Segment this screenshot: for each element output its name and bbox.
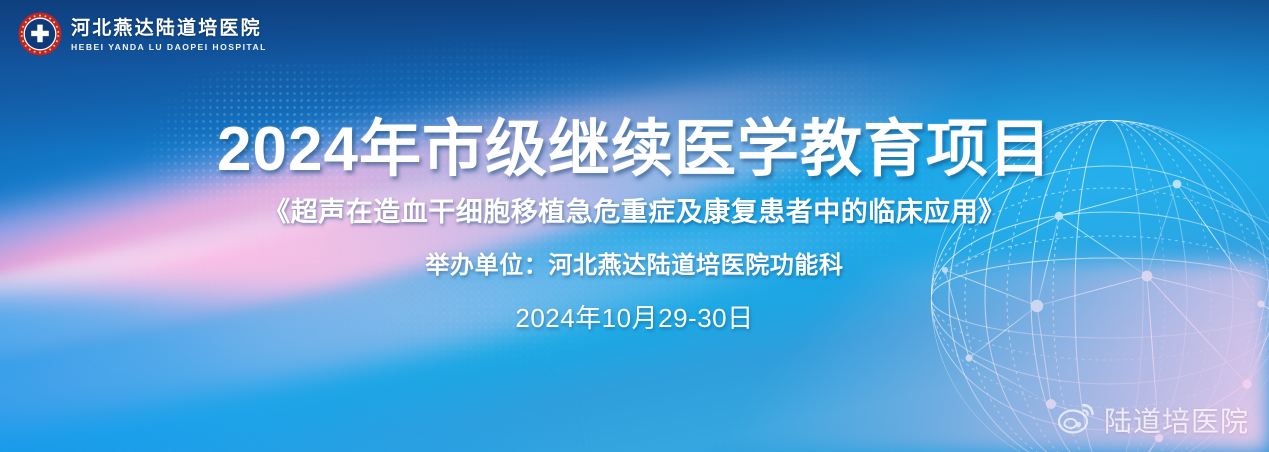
logo-text-block: 河北燕达陆道培医院 HEBEI YANDA LU DAOPEI HOSPITAL	[71, 17, 267, 52]
weibo-logo-icon	[1058, 402, 1096, 439]
watermark-text: 陆道培医院	[1104, 400, 1249, 440]
logo-name-en: HEBEI YANDA LU DAOPEI HOSPITAL	[71, 43, 267, 52]
event-title: 2024年市级继续医学教育项目	[0, 98, 1269, 188]
logo-name-cn: 河北燕达陆道培医院	[71, 19, 267, 38]
event-subtitle: 《超声在造血干细胞移植急危重症及康复患者中的临床应用》	[0, 190, 1269, 229]
hospital-cross-seal-icon	[18, 12, 62, 56]
weibo-watermark: 陆道培医院	[1058, 400, 1249, 440]
event-organizer: 举办单位：河北燕达陆道培医院功能科	[0, 245, 1269, 280]
hospital-logo: 河北燕达陆道培医院 HEBEI YANDA LU DAOPEI HOSPITAL	[18, 12, 267, 56]
event-date: 2024年10月29-30日	[0, 298, 1269, 335]
conference-banner: 河北燕达陆道培医院 HEBEI YANDA LU DAOPEI HOSPITAL…	[0, 0, 1269, 452]
